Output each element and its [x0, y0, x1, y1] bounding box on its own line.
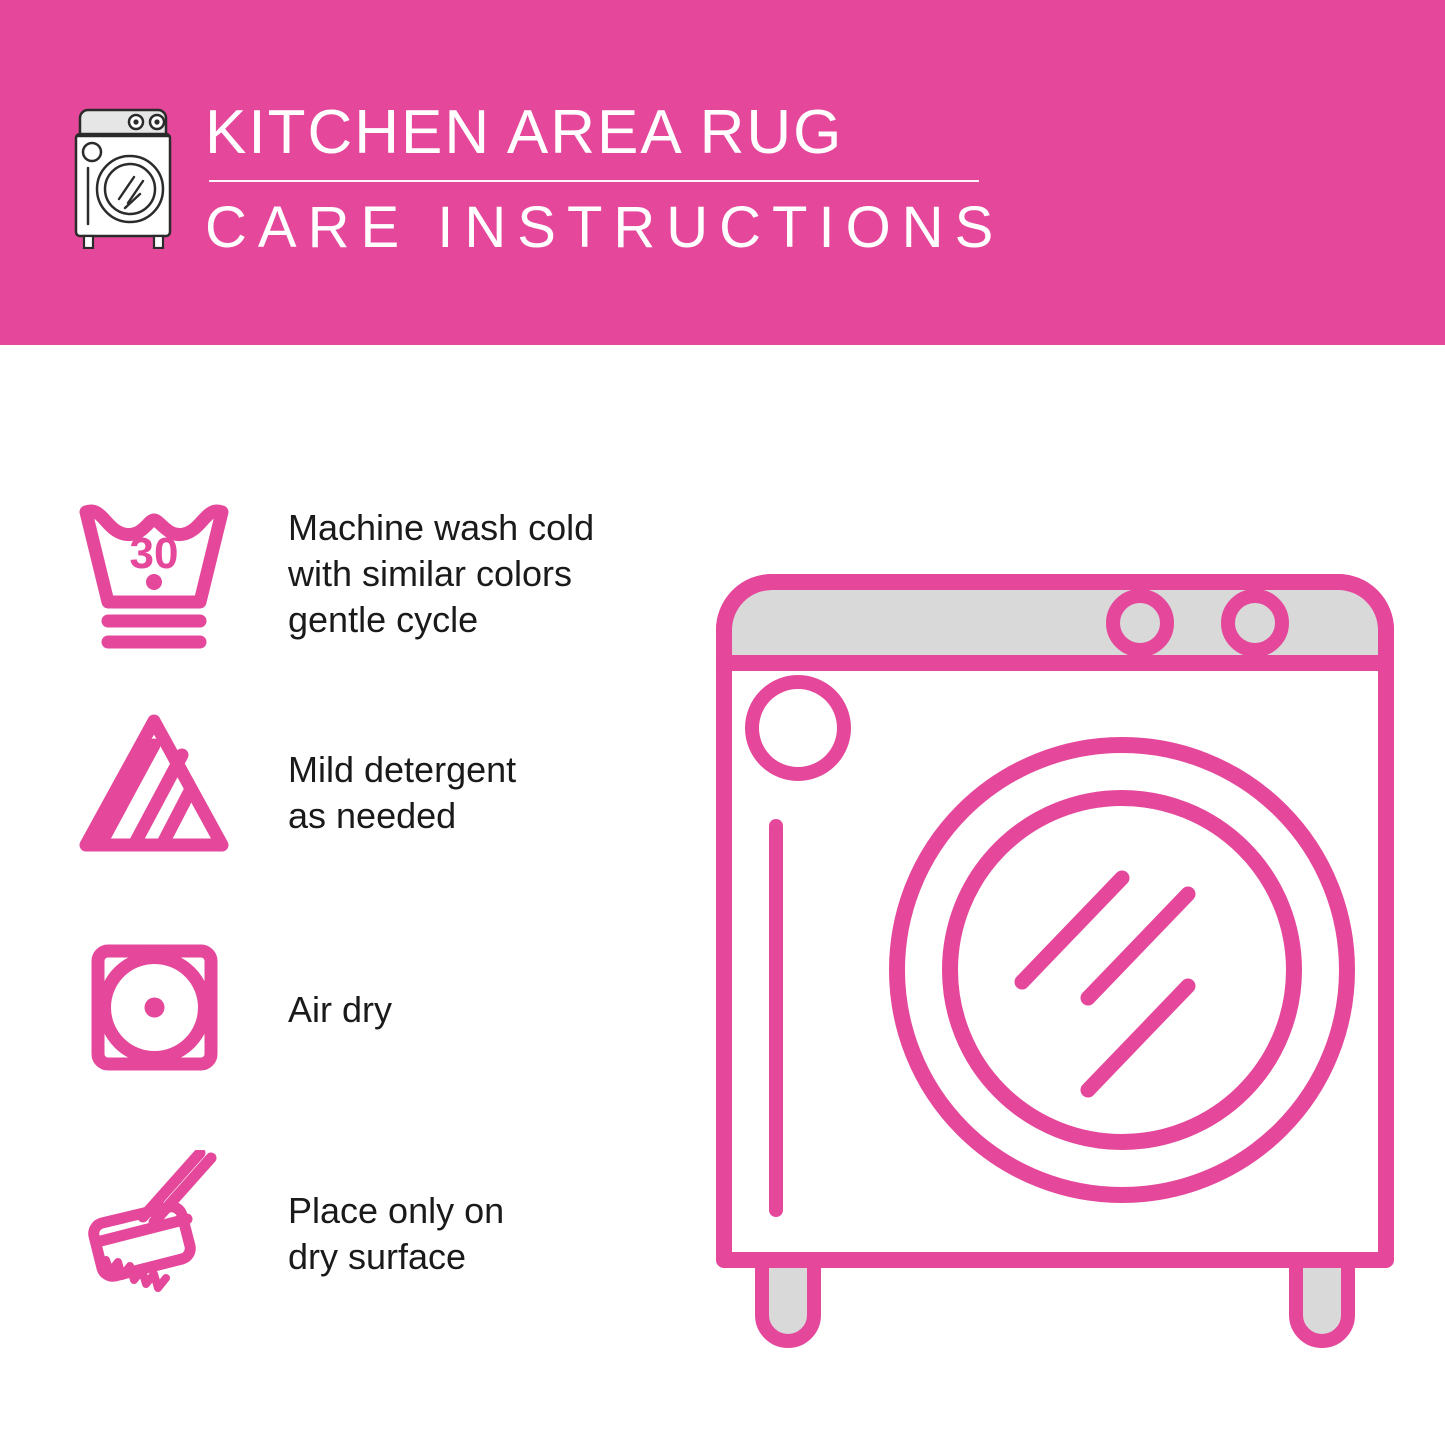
header-banner: KITCHEN AREA RUG CARE INSTRUCTIONS [0, 0, 1445, 345]
page-title: KITCHEN AREA RUG [205, 98, 1015, 168]
front-load-washing-machine-illustration [710, 470, 1400, 1370]
washing-machine-icon [62, 104, 184, 249]
instruction-list: 30 Machine wash cold with similar colors… [0, 345, 700, 1445]
wash-tub-30-gentle-icon: 30 [72, 490, 237, 655]
triangle-bleach-icon [72, 705, 237, 870]
list-item-label: Machine wash cold with similar colors ge… [288, 505, 628, 643]
page-subtitle: CARE INSTRUCTIONS [205, 196, 1015, 260]
list-item-label: Mild detergent as needed [288, 747, 628, 839]
tumble-dry-circle-square-icon [72, 925, 237, 1090]
list-item-label: Air dry [288, 987, 628, 1033]
list-item: Air dry [0, 925, 640, 1125]
care-instructions-page: KITCHEN AREA RUG CARE INSTRUCTIONS 30 Ma [0, 0, 1445, 1445]
header-text-block: KITCHEN AREA RUG CARE INSTRUCTIONS [205, 98, 1015, 260]
list-item: Mild detergent as needed [0, 705, 640, 905]
wash-temperature-value: 30 [130, 529, 179, 578]
title-divider [209, 180, 979, 182]
list-item: 30 Machine wash cold with similar colors… [0, 490, 640, 690]
list-item: Place only on dry surface [0, 1150, 640, 1350]
list-item-label: Place only on dry surface [288, 1188, 628, 1280]
broom-icon [72, 1150, 237, 1315]
